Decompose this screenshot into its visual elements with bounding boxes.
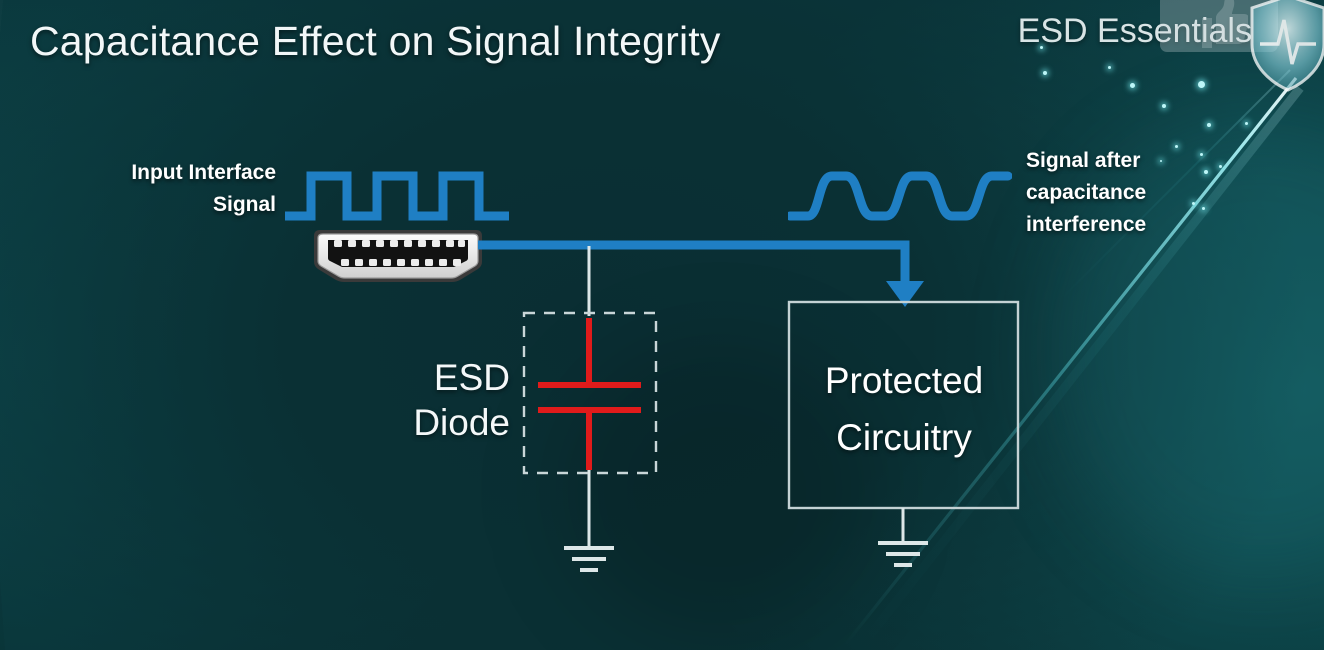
ground-symbol-protected <box>878 543 928 565</box>
esd-diode-label: ESD Diode <box>360 355 510 445</box>
protected-circuitry-label: Protected Circuitry <box>790 352 1018 467</box>
slide-canvas: Capacitance Effect on Signal Integrity E… <box>0 0 1324 650</box>
signal-trace <box>478 245 924 307</box>
circuit-diagram <box>0 0 1324 650</box>
ground-symbol-esd <box>564 548 614 570</box>
capacitor-symbol <box>538 318 641 470</box>
esd-diode-label-line2: Diode <box>360 400 510 445</box>
protected-circuitry-label-line1: Protected <box>790 352 1018 409</box>
protected-circuitry-label-line2: Circuitry <box>790 409 1018 466</box>
esd-diode-label-line1: ESD <box>360 355 510 400</box>
